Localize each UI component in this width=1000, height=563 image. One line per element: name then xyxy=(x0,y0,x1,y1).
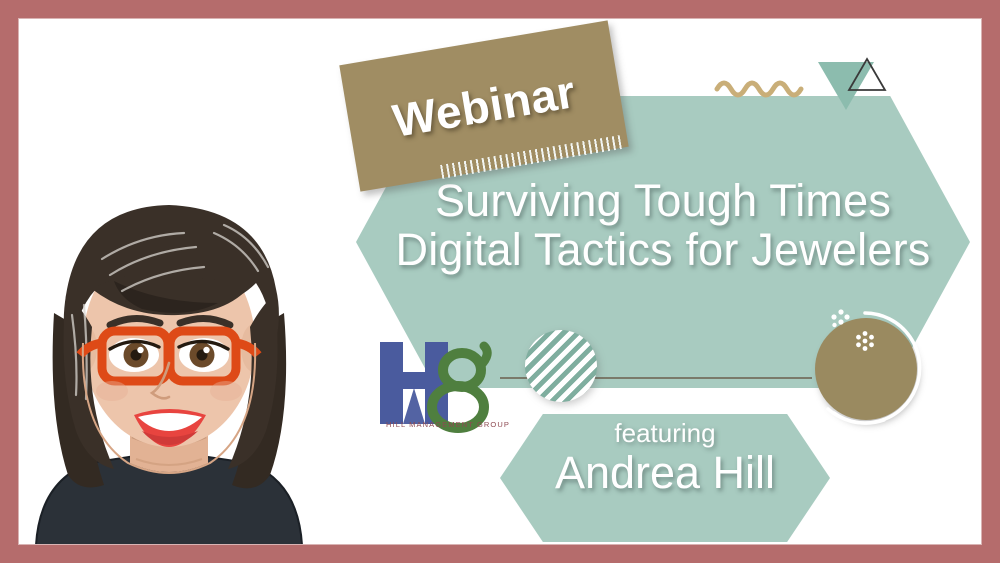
title-block: Surviving Tough Times Digital Tactics fo… xyxy=(356,178,970,274)
featuring-speaker-name: Andrea Hill xyxy=(500,447,830,499)
featuring-block: featuring Andrea Hill xyxy=(500,418,830,499)
featuring-prefix: featuring xyxy=(500,418,830,449)
webinar-poster: Webinar Surviving Tough Times Digital Ta… xyxy=(0,0,1000,563)
squiggle-icon xyxy=(714,76,806,102)
title-line-1: Surviving Tough Times xyxy=(356,178,970,225)
dot-flower-icon xyxy=(852,328,878,354)
webinar-label: Webinar xyxy=(389,64,580,148)
title-line-2: Digital Tactics for Jewelers xyxy=(356,227,970,274)
logo-caption: HILL MANAGEMENT GROUP xyxy=(370,420,526,429)
avatar xyxy=(18,163,320,545)
triangle-up-outline-icon xyxy=(845,55,889,95)
dot-cluster-icon xyxy=(828,306,854,332)
circle-ring-arc-icon xyxy=(806,309,924,427)
striped-circle-decoration xyxy=(525,330,597,402)
